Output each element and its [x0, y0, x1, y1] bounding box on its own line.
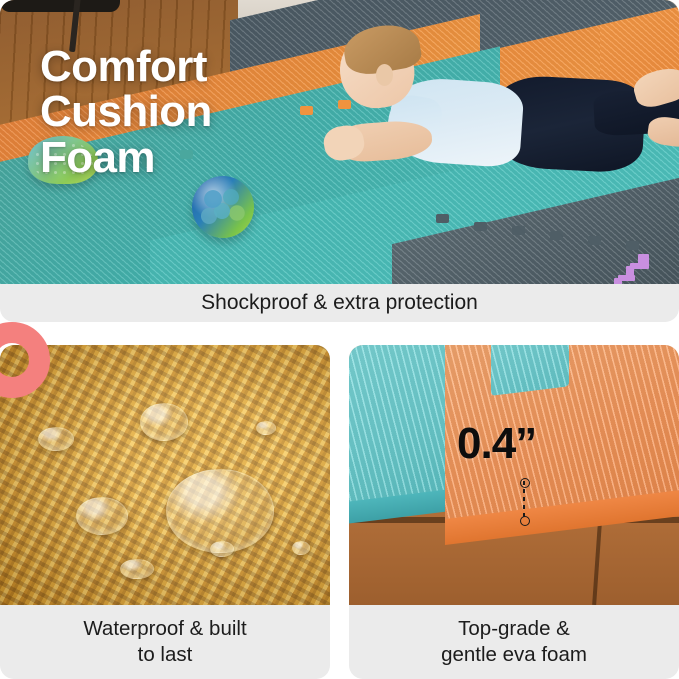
- caption-line-1: Top-grade &: [458, 617, 570, 640]
- hero-card: Comfort Cushion Foam Shockproof & extra …: [0, 0, 679, 322]
- measure-endpoint-top-icon: [520, 478, 530, 488]
- feature-panel-eva-foam: 0.4” Top-grade & gentle eva foam: [349, 345, 679, 679]
- caption-line-1: Waterproof & built: [83, 617, 246, 640]
- water-droplet: [38, 427, 74, 451]
- hero-photo: Comfort Cushion Foam: [0, 0, 679, 284]
- baby-ear: [376, 64, 393, 86]
- puzzle-nub: [588, 236, 601, 245]
- texture-shading: [0, 345, 330, 605]
- title-line-2: Cushion: [40, 89, 212, 134]
- baby: [318, 26, 679, 216]
- puzzle-nub: [474, 222, 487, 231]
- zigzag-decoration-icon: [608, 254, 652, 284]
- water-droplet: [140, 403, 188, 441]
- water-droplet: [76, 497, 128, 535]
- eva-foam-caption: Top-grade & gentle eva foam: [349, 605, 679, 679]
- puzzle-nub: [300, 106, 313, 115]
- page-title: Comfort Cushion Foam: [40, 44, 212, 180]
- water-droplet: [256, 421, 276, 435]
- product-infographic: Comfort Cushion Foam Shockproof & extra …: [0, 0, 679, 679]
- puzzle-nub: [550, 231, 563, 240]
- measure-line-icon: [523, 481, 525, 519]
- water-droplet: [120, 559, 154, 579]
- puzzle-nub: [626, 241, 639, 250]
- oball-toy: [192, 176, 254, 238]
- water-droplet: [292, 541, 310, 555]
- water-droplet: [210, 541, 234, 557]
- title-line-1: Comfort: [40, 44, 212, 89]
- puzzle-nub: [512, 226, 525, 235]
- caption-line-2: to last: [138, 643, 193, 666]
- title-line-3: Foam: [40, 135, 212, 180]
- hero-caption: Shockproof & extra protection: [0, 284, 679, 322]
- baby-foot: [646, 115, 679, 149]
- caption-line-2: gentle eva foam: [441, 643, 587, 666]
- measure-endpoint-bottom-icon: [520, 516, 530, 526]
- thickness-label: 0.4”: [457, 419, 536, 469]
- waterproof-caption: Waterproof & built to last: [0, 605, 330, 679]
- feature-panel-waterproof: Waterproof & built to last: [0, 345, 330, 679]
- waterproof-photo: [0, 345, 330, 605]
- eva-foam-photo: 0.4”: [349, 345, 679, 605]
